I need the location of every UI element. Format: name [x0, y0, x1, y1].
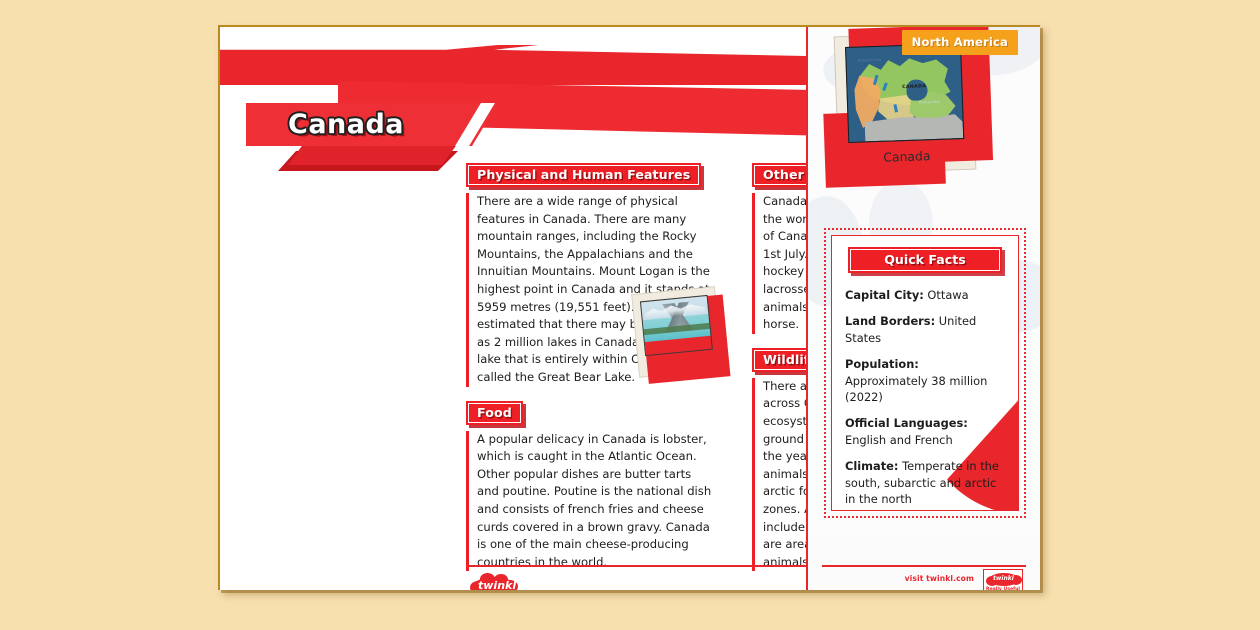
page-title: Canada [288, 109, 404, 140]
section-body: Canada is the second largest country in … [752, 193, 806, 334]
quick-fact-row: Population: Approximately 38 million (20… [845, 356, 1005, 405]
quick-fact-value: Approximately 38 million (2022) [845, 374, 987, 404]
main-content-column: Canada Physical and Human Features There… [218, 25, 806, 590]
quick-fact-label: Population: [845, 357, 919, 371]
quick-fact-label: Climate: [845, 459, 898, 473]
title-ribbon: Canada [246, 103, 498, 146]
quick-fact-label: Official Languages: [845, 416, 968, 430]
content-column-right: Other Information Canada is the second l… [752, 163, 806, 580]
map-bay-label: Hudson Bay [919, 99, 941, 104]
quick-facts-panel: Quick Facts Capital City: Ottawa Land Bo… [824, 228, 1026, 518]
quick-facts-heading: Quick Facts [848, 247, 1002, 273]
section-body: There are a variety of ecosystems found … [752, 378, 806, 572]
lake-photo-image [640, 295, 713, 356]
quick-fact-row: Climate: Temperate in the south, subarct… [845, 458, 1005, 507]
section-body: A popular delicacy in Canada is lobster,… [466, 431, 712, 572]
section-heading: Physical and Human Features [466, 163, 701, 187]
map-country-label: CANADA [902, 85, 926, 91]
twinkl-logo[interactable]: twinkl [470, 573, 518, 590]
banner-swoosh-upper [218, 45, 806, 85]
quick-fact-row: Land Borders: United States [845, 313, 1005, 346]
twinkl-wordmark: twinkl [478, 579, 516, 590]
section-heading: Food [466, 401, 523, 425]
content-column-left: Physical and Human Features There are a … [466, 163, 712, 580]
quick-fact-row: Official Languages: English and French [845, 415, 1005, 448]
lake-photo [632, 287, 721, 376]
quick-fact-label: Land Borders: [845, 314, 935, 328]
section-other-information: Other Information Canada is the second l… [752, 163, 806, 334]
badge-wordmark: twinkl [993, 575, 1014, 582]
section-heading: Wildlife and Vegetation [752, 348, 806, 372]
section-food: Food A popular delicacy in Canada is lob… [466, 401, 712, 572]
canada-map-image: CANADA Beaufort Sea Hudson Bay [845, 43, 964, 143]
visit-website-text[interactable]: visit twinkl.com [905, 574, 974, 583]
banner-swoosh-tail [288, 143, 458, 165]
worksheet-page: Canada Physical and Human Features There… [218, 25, 1040, 590]
map-sea-label: Beaufort Sea [858, 58, 881, 63]
map-united-states [864, 114, 963, 142]
section-wildlife-and-vegetation: Wildlife and Vegetation There are a vari… [752, 348, 806, 572]
quick-fact-value: Ottawa [927, 288, 968, 302]
footer-divider [822, 565, 1026, 567]
sidebar: CANADA Beaufort Sea Hudson Bay Canada Qu… [806, 25, 1040, 590]
quick-fact-label: Capital City: [845, 288, 924, 302]
quick-fact-row: Capital City: Ottawa [845, 287, 1005, 303]
section-heading: Other Information [752, 163, 806, 187]
quick-fact-value: English and French [845, 433, 953, 447]
twinkl-approved-badge[interactable]: twinkl Really Useful Approved [983, 569, 1023, 590]
badge-line-1: Really Useful [984, 587, 1022, 590]
quick-facts-list: Capital City: Ottawa Land Borders: Unite… [845, 287, 1005, 507]
region-tag[interactable]: North America [902, 30, 1018, 55]
quick-facts-card: Quick Facts Capital City: Ottawa Land Bo… [831, 235, 1019, 511]
footer-divider [466, 565, 806, 567]
